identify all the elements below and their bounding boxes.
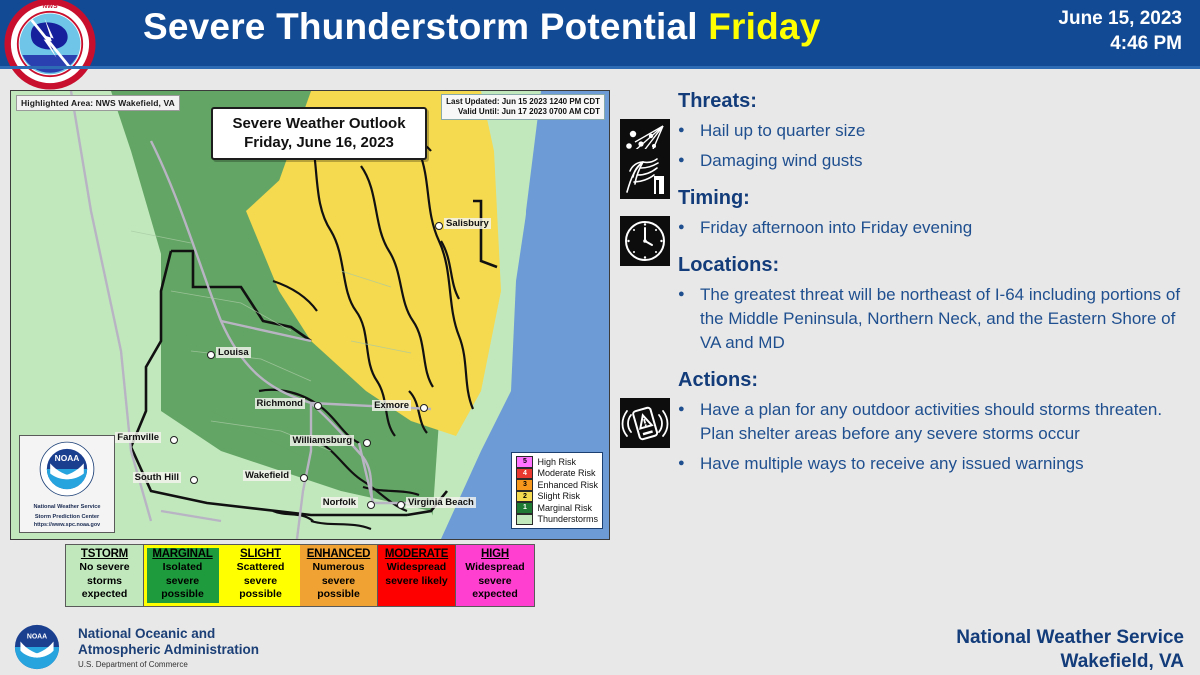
risk-legend-row: 2Slight Risk: [516, 491, 598, 503]
city-name: Louisa: [216, 347, 251, 358]
section-heading: Locations:: [678, 254, 1190, 277]
city-dot-icon: [190, 476, 198, 484]
bullet-item: ●Damaging wind gusts: [678, 149, 1190, 173]
city-dot-icon: [170, 436, 178, 444]
risk-legend-row: 1Marginal Risk: [516, 502, 598, 514]
city-name: Farmville: [115, 432, 161, 443]
map-title-line1: Severe Weather Outlook: [219, 114, 419, 133]
phone-alert-icon: [620, 398, 670, 448]
map-title-line2: Friday, June 16, 2023: [219, 133, 419, 152]
risk-legend-label: Moderate Risk: [537, 468, 595, 478]
risk-category-desc: Widespreadsevere likely: [380, 561, 453, 588]
bullet-item: ●Have multiple ways to receive any issue…: [678, 452, 1190, 476]
bullet-dot-icon: ●: [678, 398, 700, 420]
city-name: Exmore: [372, 400, 411, 411]
bullet-text: Have a plan for any outdoor activities s…: [700, 398, 1186, 446]
risk-legend-row: Thunderstorms: [516, 514, 598, 526]
risk-legend-swatch: 5: [516, 456, 533, 468]
page-title-day: Friday: [708, 6, 820, 47]
page-title-main: Severe Thunderstorm Potential: [143, 6, 708, 47]
risk-category-cell[interactable]: MARGINALIsolatedseverepossible: [144, 545, 222, 606]
bullet-text: Hail up to quarter size: [700, 119, 865, 143]
bullet-dot-icon: ●: [678, 452, 700, 474]
risk-category-desc: No severestormsexpected: [68, 561, 141, 602]
risk-category-desc: Isolatedseverepossible: [146, 561, 219, 602]
header-date: June 15, 2023: [1058, 6, 1182, 31]
bullet-text: The greatest threat will be northeast of…: [700, 283, 1186, 355]
risk-legend-label: Slight Risk: [537, 491, 580, 501]
risk-category-title: MARGINAL: [146, 548, 219, 560]
city-dot-icon: [420, 404, 428, 412]
city-dot-icon: [314, 402, 322, 410]
header-divider: [0, 66, 1200, 69]
risk-category-desc: Scatteredseverepossible: [224, 561, 297, 602]
risk-category-cell[interactable]: ENHANCEDNumerousseverepossible: [300, 545, 378, 606]
city-dot-icon: [207, 351, 215, 359]
noaa-wordmark: National Oceanic and Atmospheric Adminis…: [78, 626, 259, 669]
bullet-dot-icon: ●: [678, 119, 700, 141]
city-name: Wakefield: [243, 470, 291, 481]
spc-logo-box: NOAA National Weather Service Storm Pred…: [19, 435, 115, 533]
noaa-seal-icon: NOAA: [14, 624, 60, 670]
map-last-updated: Last Updated: Jun 15 2023 1240 PM CDT: [446, 97, 600, 107]
spc-line1: National Weather Service: [23, 504, 111, 512]
bullet-text: Friday afternoon into Friday evening: [700, 216, 972, 240]
bullet-item: ●The greatest threat will be northeast o…: [678, 283, 1190, 355]
risk-category-desc: Numerousseverepossible: [302, 561, 375, 602]
risk-legend-swatch: 3: [516, 479, 533, 491]
map-title-box: Severe Weather Outlook Friday, June 16, …: [211, 107, 427, 160]
city-dot-icon: [300, 474, 308, 482]
risk-category-title: SLIGHT: [224, 548, 297, 560]
section-heading: Threats:: [678, 90, 1190, 113]
risk-category-cell[interactable]: TSTORMNo severestormsexpected: [66, 545, 144, 606]
city-name: South Hill: [133, 472, 181, 483]
city-dot-icon: [397, 501, 405, 509]
spc-line2: Storm Prediction Center: [23, 514, 111, 522]
city-dot-icon: [435, 222, 443, 230]
clock-icon: [620, 216, 670, 266]
risk-category-cell[interactable]: MODERATEWidespreadsevere likely: [378, 545, 456, 606]
risk-legend-row: 4Moderate Risk: [516, 468, 598, 480]
bullet-item: ●Hail up to quarter size: [678, 119, 1190, 143]
risk-legend-label: Marginal Risk: [537, 503, 592, 513]
city-name: Norfolk: [321, 497, 358, 508]
section-heading: Timing:: [678, 187, 1190, 210]
bullet-dot-icon: ●: [678, 149, 700, 171]
risk-category-desc: Widespreadsevereexpected: [458, 561, 532, 602]
svg-text:NOAA: NOAA: [27, 634, 47, 641]
page-title: Severe Thunderstorm Potential Friday: [143, 6, 821, 48]
city-dot-icon: [363, 439, 371, 447]
city-dot-icon: [367, 501, 375, 509]
risk-legend-label: Thunderstorms: [537, 514, 598, 524]
risk-category-title: MODERATE: [380, 548, 453, 560]
bullet-dot-icon: ●: [678, 283, 700, 305]
page-header: NWS Severe Thunderstorm Potential Friday…: [0, 0, 1200, 66]
header-time: 4:46 PM: [1058, 31, 1182, 56]
risk-category-title: ENHANCED: [302, 548, 375, 560]
city-name: Richmond: [255, 398, 305, 409]
map-valid-until: Valid Until: Jun 17 2023 0700 AM CDT: [446, 107, 600, 117]
risk-category-cell[interactable]: HIGHWidespreadsevereexpected: [456, 545, 534, 606]
bullet-text: Damaging wind gusts: [700, 149, 863, 173]
wind-tree-icon: [620, 149, 670, 199]
section-heading: Actions:: [678, 369, 1190, 392]
svg-text:NWS: NWS: [42, 3, 58, 10]
noaa-line1: National Oceanic and: [78, 626, 259, 642]
nws-seal-icon: NWS: [4, 0, 96, 90]
map-highlighted-area: Highlighted Area: NWS Wakefield, VA: [16, 95, 180, 111]
risk-category-title: TSTORM: [68, 548, 141, 560]
bullet-dot-icon: ●: [678, 216, 700, 238]
city-name: Virginia Beach: [406, 497, 476, 508]
risk-legend-label: High Risk: [537, 457, 576, 467]
office-line2: Wakefield, VA: [956, 650, 1184, 674]
bullet-item: ●Friday afternoon into Friday evening: [678, 216, 1190, 240]
risk-category-cell[interactable]: SLIGHTScatteredseverepossible: [222, 545, 300, 606]
risk-legend-row: 5High Risk: [516, 456, 598, 468]
risk-legend: 5High Risk4Moderate Risk3Enhanced Risk2S…: [511, 452, 603, 529]
city-name: Williamsburg: [290, 435, 354, 446]
risk-legend-swatch: 2: [516, 491, 533, 503]
risk-legend-row: 3Enhanced Risk: [516, 479, 598, 491]
header-datetime: June 15, 2023 4:46 PM: [1058, 6, 1182, 56]
office-identity: National Weather Service Wakefield, VA: [956, 626, 1184, 674]
bullet-item: ●Have a plan for any outdoor activities …: [678, 398, 1190, 446]
bullet-text: Have multiple ways to receive any issued…: [700, 452, 1084, 476]
outlook-map[interactable]: Highlighted Area: NWS Wakefield, VA Last…: [10, 90, 610, 540]
page-footer: NOAA National Oceanic and Atmospheric Ad…: [0, 618, 1200, 675]
noaa-seal-icon: NOAA: [39, 441, 95, 497]
svg-text:NOAA: NOAA: [55, 453, 80, 463]
map-update-stamp: Last Updated: Jun 15 2023 1240 PM CDT Va…: [441, 94, 605, 120]
risk-category-bar: TSTORMNo severestormsexpectedMARGINALIso…: [65, 544, 535, 607]
noaa-line3: U.S. Department of Commerce: [78, 660, 259, 669]
office-line1: National Weather Service: [956, 626, 1184, 650]
outlook-details: Threats:●Hail up to quarter size●Damagin…: [620, 90, 1190, 482]
risk-category-title: HIGH: [458, 548, 532, 560]
risk-legend-swatch: 4: [516, 468, 533, 480]
noaa-line2: Atmospheric Administration: [78, 642, 259, 658]
spc-url: https://www.spc.noaa.gov: [23, 522, 111, 528]
risk-legend-swatch: [516, 514, 533, 526]
risk-legend-swatch: 1: [516, 502, 533, 514]
city-name: Salisbury: [444, 218, 491, 229]
risk-legend-label: Enhanced Risk: [537, 480, 598, 490]
